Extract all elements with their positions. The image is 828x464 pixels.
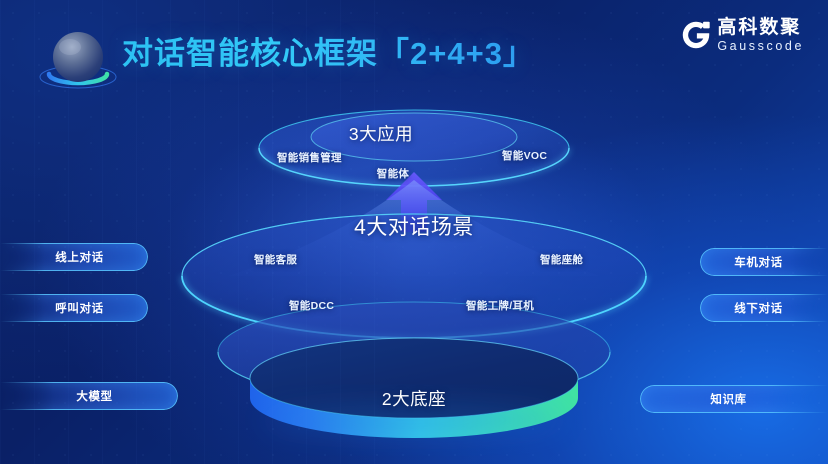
logo-name-cn: 高科数聚 (717, 18, 804, 37)
connector-lines (130, 257, 700, 400)
pill-call-dialog[interactable]: 呼叫对话 (0, 294, 148, 322)
brand-logo: 高科数聚 Gausscode (681, 18, 804, 53)
pill-invehicle-dialog[interactable]: 车机对话 (700, 248, 828, 276)
gausscode-g-mark-icon (681, 20, 711, 50)
node-label-dcc: 智能DCC (289, 298, 334, 313)
pill-large-model[interactable]: 大模型 (0, 382, 178, 410)
logo-name-en: Gausscode (717, 40, 804, 53)
slide-canvas: 对话智能核心框架「2+4+3」 高科数聚 Gausscode 3大应用 4大对话… (0, 0, 828, 464)
node-label-agent: 智能体 (377, 166, 409, 181)
tier-label-base: 2大底座 (382, 386, 446, 411)
slide-header: 对话智能核心框架「2+4+3」 高科数聚 Gausscode (0, 0, 828, 104)
tier-label-scenes: 4大对话场景 (354, 211, 474, 241)
node-label-voc: 智能VOC (502, 148, 547, 163)
page-title: 对话智能核心框架「2+4+3」 (122, 28, 535, 73)
pill-offline-dialog[interactable]: 线下对话 (700, 294, 828, 322)
node-label-customer-service: 智能客服 (254, 252, 297, 267)
node-label-sales: 智能销售管理 (277, 150, 342, 165)
tier-label-apps: 3大应用 (349, 121, 413, 146)
node-label-cabin: 智能座舱 (540, 252, 583, 267)
node-label-badge-headset: 智能工牌/耳机 (466, 298, 534, 313)
pill-knowledge-base[interactable]: 知识库 (640, 385, 828, 413)
pill-online-dialog[interactable]: 线上对话 (0, 243, 148, 271)
sphere-orb-icon (30, 14, 126, 100)
